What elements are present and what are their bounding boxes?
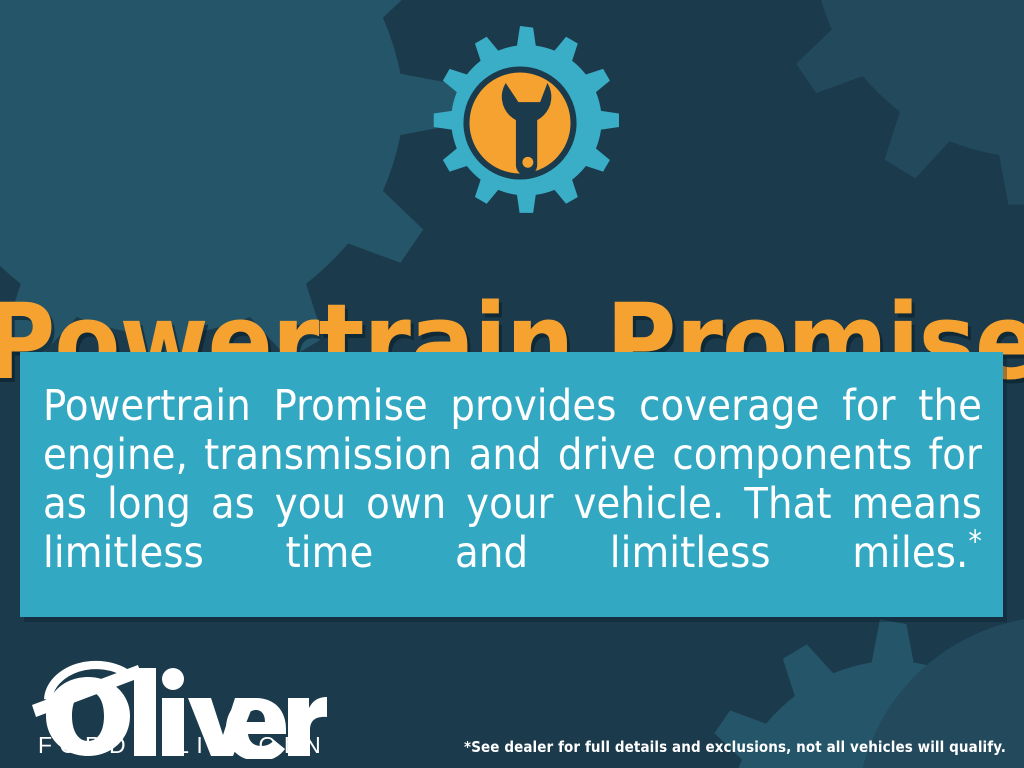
disclaimer-text: *See dealer for full details and exclusi…: [464, 738, 1006, 756]
logo-tagline: FORD · LINCOLN: [38, 732, 328, 758]
body-paragraph-text: Powertrain Promise provides coverage for…: [43, 381, 982, 578]
gear-wrench-badge-icon: [419, 22, 621, 224]
powertrain-promise-poster: Powertrain Promise Powertrain Promise pr…: [0, 0, 1024, 768]
body-panel: Powertrain Promise provides coverage for…: [20, 352, 1003, 617]
body-paragraph: Powertrain Promise provides coverage for…: [43, 382, 982, 627]
bg-gear-top-right-icon: [700, 0, 1024, 290]
body-asterisk: *: [968, 525, 982, 560]
oliver-logo: FORD · LINCOLN: [30, 641, 330, 759]
